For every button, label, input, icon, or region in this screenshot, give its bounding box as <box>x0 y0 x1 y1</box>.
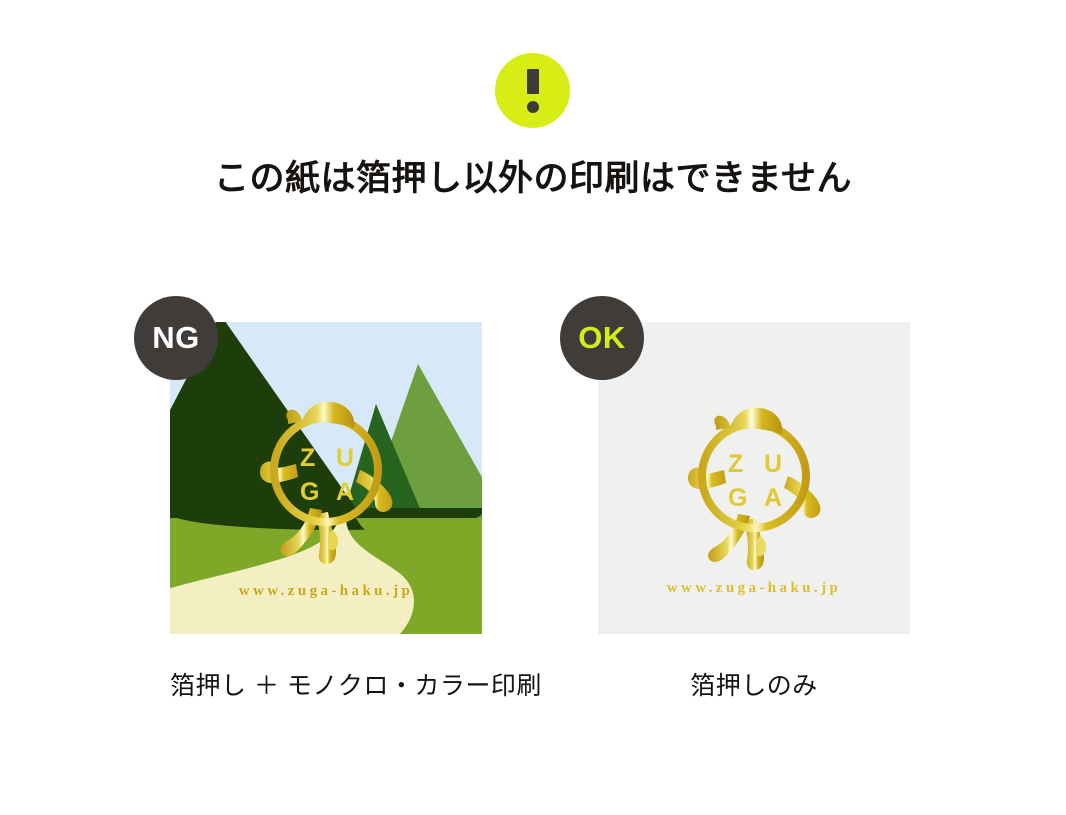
logo-letters-line1: Z <box>300 444 316 472</box>
logo-letters-line1b: U <box>336 444 354 472</box>
status-badge-ng: NG <box>134 296 218 380</box>
caption-ok: 箔押しのみ <box>598 666 910 702</box>
caption-ng: 箔押し ＋ モノクロ・カラー印刷 <box>170 666 482 702</box>
status-badge-ok: OK <box>560 296 644 380</box>
example-image-ng: Z U G A www.zuga-haku.jp <box>170 322 482 634</box>
example-image-ok: Z U G A www.zuga-haku.jp <box>598 322 910 634</box>
logo-letters-line1: Z <box>728 450 743 478</box>
exclamation-bar <box>527 69 539 94</box>
page-root: この紙は箔押し以外の印刷はできません <box>0 0 1066 815</box>
logo-letters-line2: G <box>300 478 319 506</box>
exclamation-alert-icon <box>495 53 570 128</box>
exclamation-dot <box>527 101 539 113</box>
logo-url-ok: www.zuga-haku.jp <box>598 580 910 597</box>
logo-url-ng: www.zuga-haku.jp <box>170 583 482 600</box>
zuga-mascot-logo-foil: Z U G A <box>664 390 844 576</box>
exclamation-glyph <box>527 69 539 113</box>
logo-letters-line2: G <box>728 484 747 512</box>
logo-letters-line2b: A <box>764 484 782 512</box>
logo-letters-line1b: U <box>764 450 782 478</box>
logo-letters-line2b: A <box>336 478 354 506</box>
zuga-mascot-logo: Z U G A <box>236 384 416 570</box>
page-title: この紙は箔押し以外の印刷はできません <box>0 158 1066 200</box>
